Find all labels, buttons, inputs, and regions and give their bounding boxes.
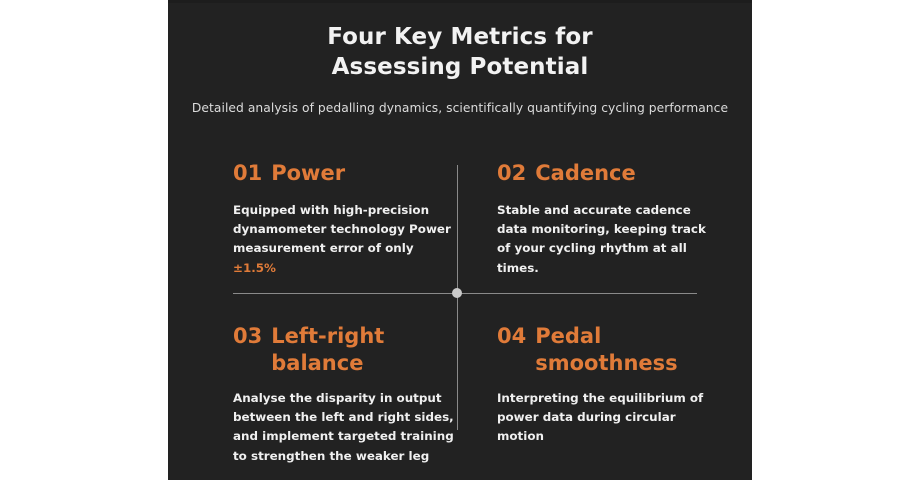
- metric-body-power-highlight: ±1.5%: [233, 261, 276, 275]
- metric-name-pedal-smoothness-line-1: Pedal: [535, 324, 601, 348]
- metric-body-pedal-smoothness: Interpreting the equilibrium of power da…: [497, 389, 721, 447]
- metric-body-cadence: Stable and accurate cadence data monitor…: [497, 201, 721, 278]
- metric-name-cadence: Cadence: [535, 160, 636, 187]
- metric-body-power: Equipped with high-precision dynamometer…: [233, 201, 457, 278]
- metric-name-pedal-smoothness: Pedal smoothness: [535, 323, 677, 377]
- metric-name-power: Power: [271, 160, 345, 187]
- dark-card-panel: Four Key Metrics for Assessing Potential…: [168, 0, 752, 480]
- metric-card-left-right-balance: 03 Left-right balance Analyse the dispar…: [233, 323, 457, 466]
- metric-heading-cadence: 02 Cadence: [497, 160, 721, 187]
- metric-heading-left-right-balance: 03 Left-right balance: [233, 323, 457, 377]
- metric-name-left-right-balance-line-2: balance: [271, 351, 363, 375]
- infographic-canvas: Four Key Metrics for Assessing Potential…: [0, 0, 920, 480]
- metric-number-01: 01: [233, 160, 262, 187]
- metric-number-04: 04: [497, 323, 526, 350]
- metric-card-pedal-smoothness: 04 Pedal smoothness Interpreting the equ…: [497, 323, 721, 447]
- metric-name-power-line-1: Power: [271, 161, 345, 185]
- metric-body-power-text: Equipped with high-precision dynamometer…: [233, 203, 451, 256]
- metric-name-left-right-balance: Left-right balance: [271, 323, 384, 377]
- metric-heading-pedal-smoothness: 04 Pedal smoothness: [497, 323, 721, 377]
- metric-card-power: 01 Power Equipped with high-precision dy…: [233, 160, 457, 278]
- metrics-grid: 01 Power Equipped with high-precision dy…: [168, 0, 752, 480]
- metric-number-02: 02: [497, 160, 526, 187]
- metric-heading-power: 01 Power: [233, 160, 457, 187]
- metric-name-left-right-balance-line-1: Left-right: [271, 324, 384, 348]
- metric-card-cadence: 02 Cadence Stable and accurate cadence d…: [497, 160, 721, 278]
- metric-number-03: 03: [233, 323, 262, 350]
- metric-name-cadence-line-1: Cadence: [535, 161, 636, 185]
- metric-body-left-right-balance: Analyse the disparity in output between …: [233, 389, 457, 466]
- metric-name-pedal-smoothness-line-2: smoothness: [535, 351, 677, 375]
